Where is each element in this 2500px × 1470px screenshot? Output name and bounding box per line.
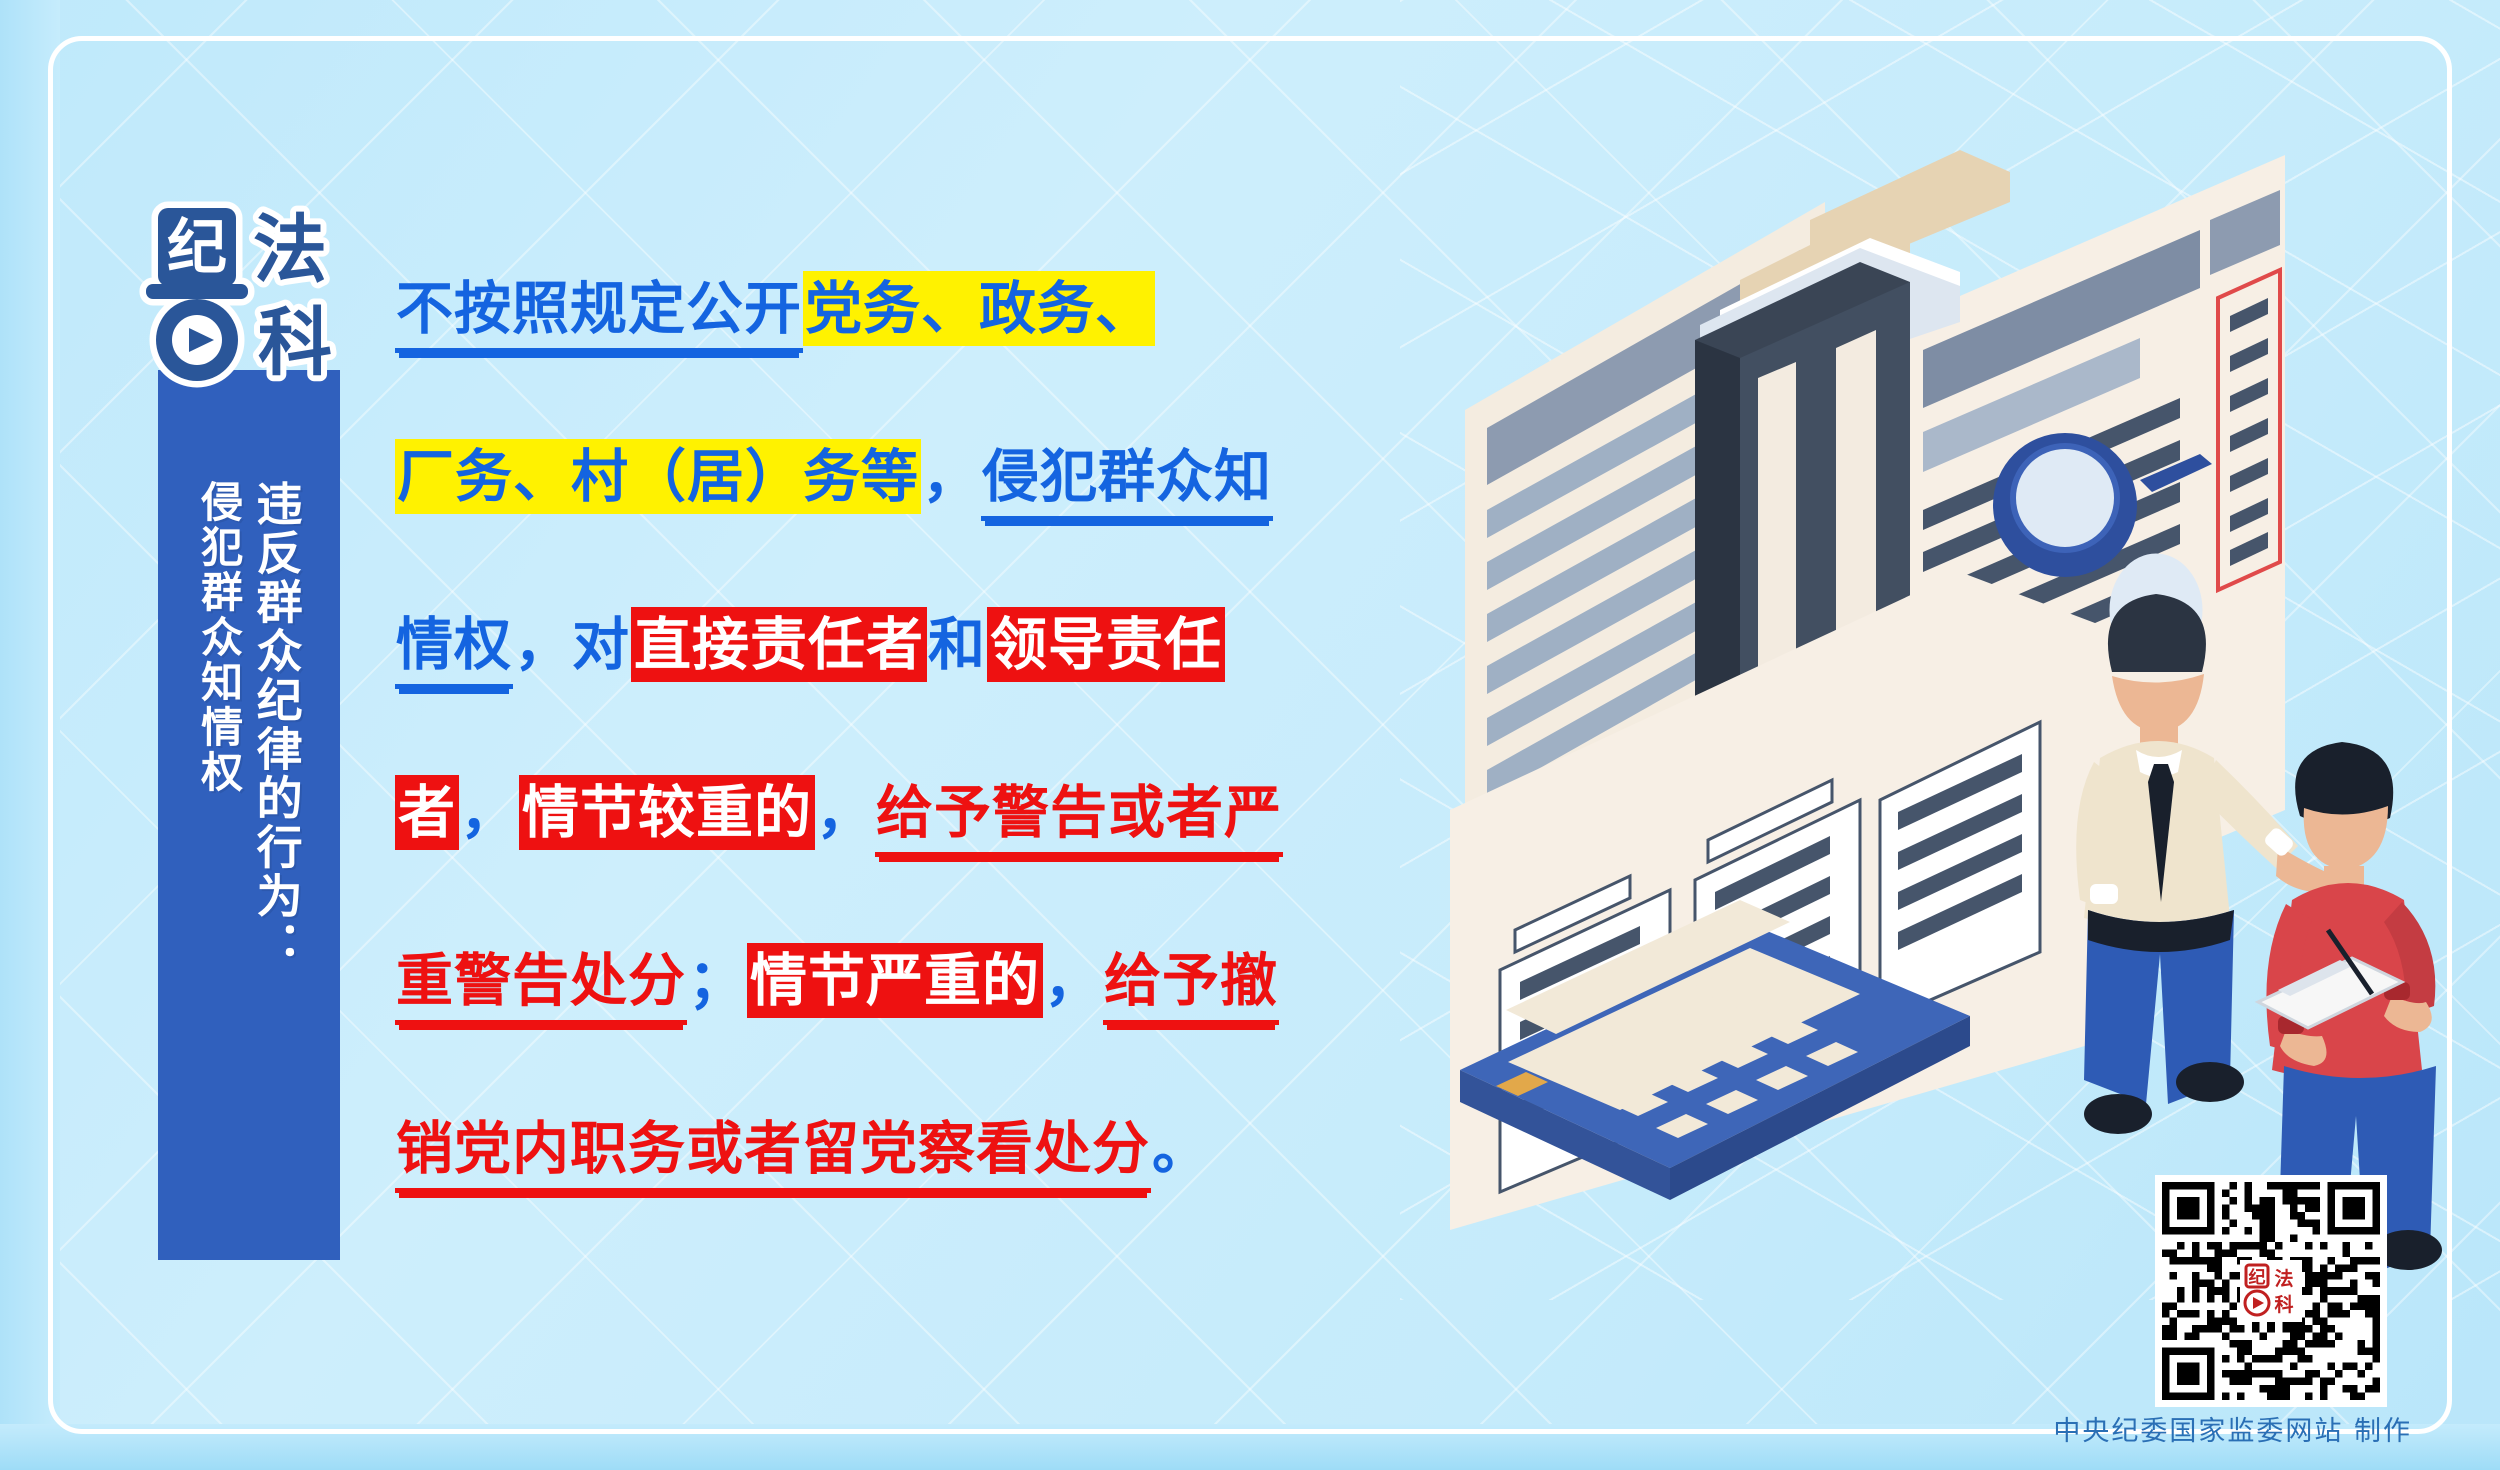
banner-column-left: 侵犯群众知情权: [193, 480, 244, 795]
text-segment-plain: ，对: [513, 611, 631, 678]
vertical-title-banner: 违反群众纪律的行为： 侵犯群众知情权: [158, 370, 340, 1260]
text-segment-u-red: 给予警告或者严: [875, 779, 1283, 857]
text-segment-hl-red: 直接责任者: [631, 607, 927, 682]
text-segment-hl-red: 情节严重的: [747, 943, 1043, 1018]
qr-center-logo: 纪 法 科: [2240, 1260, 2302, 1322]
qr-code[interactable]: 纪 法 科: [2155, 1175, 2387, 1407]
regulation-text-line: 销党内职务或者留党察看处分。: [395, 1065, 1465, 1233]
footer-credit: 中央纪委国家监委网站 制作: [2053, 1409, 2412, 1448]
text-segment-hl-red: 情节较重的: [519, 775, 815, 850]
text-segment-u-blue: 侵犯群众知: [981, 443, 1273, 521]
regulation-text-line: 厂务、村（居）务等，侵犯群众知: [395, 393, 1465, 561]
text-segment-u-red: 给予撤: [1103, 947, 1279, 1025]
logo-bar: [146, 284, 248, 299]
poster-root: 纪 法 科 法 科 违反群众纪律的行为： 侵犯群众知情权 不按照规定公开党务、政…: [0, 0, 2500, 1470]
text-segment-punct-blue: ，: [921, 443, 981, 510]
text-segment-punct-blue: ，: [815, 779, 875, 846]
svg-text:法: 法: [2274, 1267, 2293, 1290]
left-edge-gradient: [0, 0, 60, 1470]
banner-column-right: 违反群众纪律的行为：: [249, 480, 305, 970]
text-segment-hl-red: 者: [395, 775, 459, 850]
regulation-text-block: 不按照规定公开党务、政务、厂务、村（居）务等，侵犯群众知情权，对直接责任者和领导…: [395, 225, 1465, 1233]
regulation-text-line: 重警告处分；情节严重的，给予撤: [395, 897, 1465, 1065]
svg-text:纪: 纪: [2249, 1267, 2266, 1288]
text-segment-plain: 和: [927, 611, 987, 678]
text-segment-u-blue: 情权: [395, 611, 513, 689]
text-segment-punct-blue: 。: [1151, 1115, 1211, 1182]
logo-char-fa: 法: [253, 207, 327, 293]
logo-char-ke: 科: [258, 300, 332, 386]
text-segment-u-blue: 不按照规定公开: [395, 275, 803, 353]
brand-logo: 纪 法 科 法 科: [130, 200, 360, 390]
regulation-text-line: 者，情节较重的，给予警告或者严: [395, 729, 1465, 897]
isometric-office-illustration: [1440, 110, 2460, 1290]
text-segment-hl-yellow: 党务、政务、: [803, 271, 1155, 346]
svg-text:科: 科: [2274, 1293, 2293, 1316]
regulation-text-line: 情权，对直接责任者和领导责任: [395, 561, 1465, 729]
logo-char-ji: 纪: [167, 213, 227, 283]
regulation-text-line: 不按照规定公开党务、政务、: [395, 225, 1465, 393]
text-segment-hl-yellow: 厂务、村（居）务等: [395, 439, 921, 514]
text-segment-u-red: 销党内职务或者留党察看处分: [395, 1115, 1151, 1193]
text-segment-punct-blue: ；: [687, 947, 747, 1014]
text-segment-punct-blue: ，: [459, 779, 519, 846]
text-segment-hl-red: 领导责任: [987, 607, 1225, 682]
text-segment-punct-blue: ，: [1043, 947, 1103, 1014]
text-segment-u-red: 重警告处分: [395, 947, 687, 1025]
